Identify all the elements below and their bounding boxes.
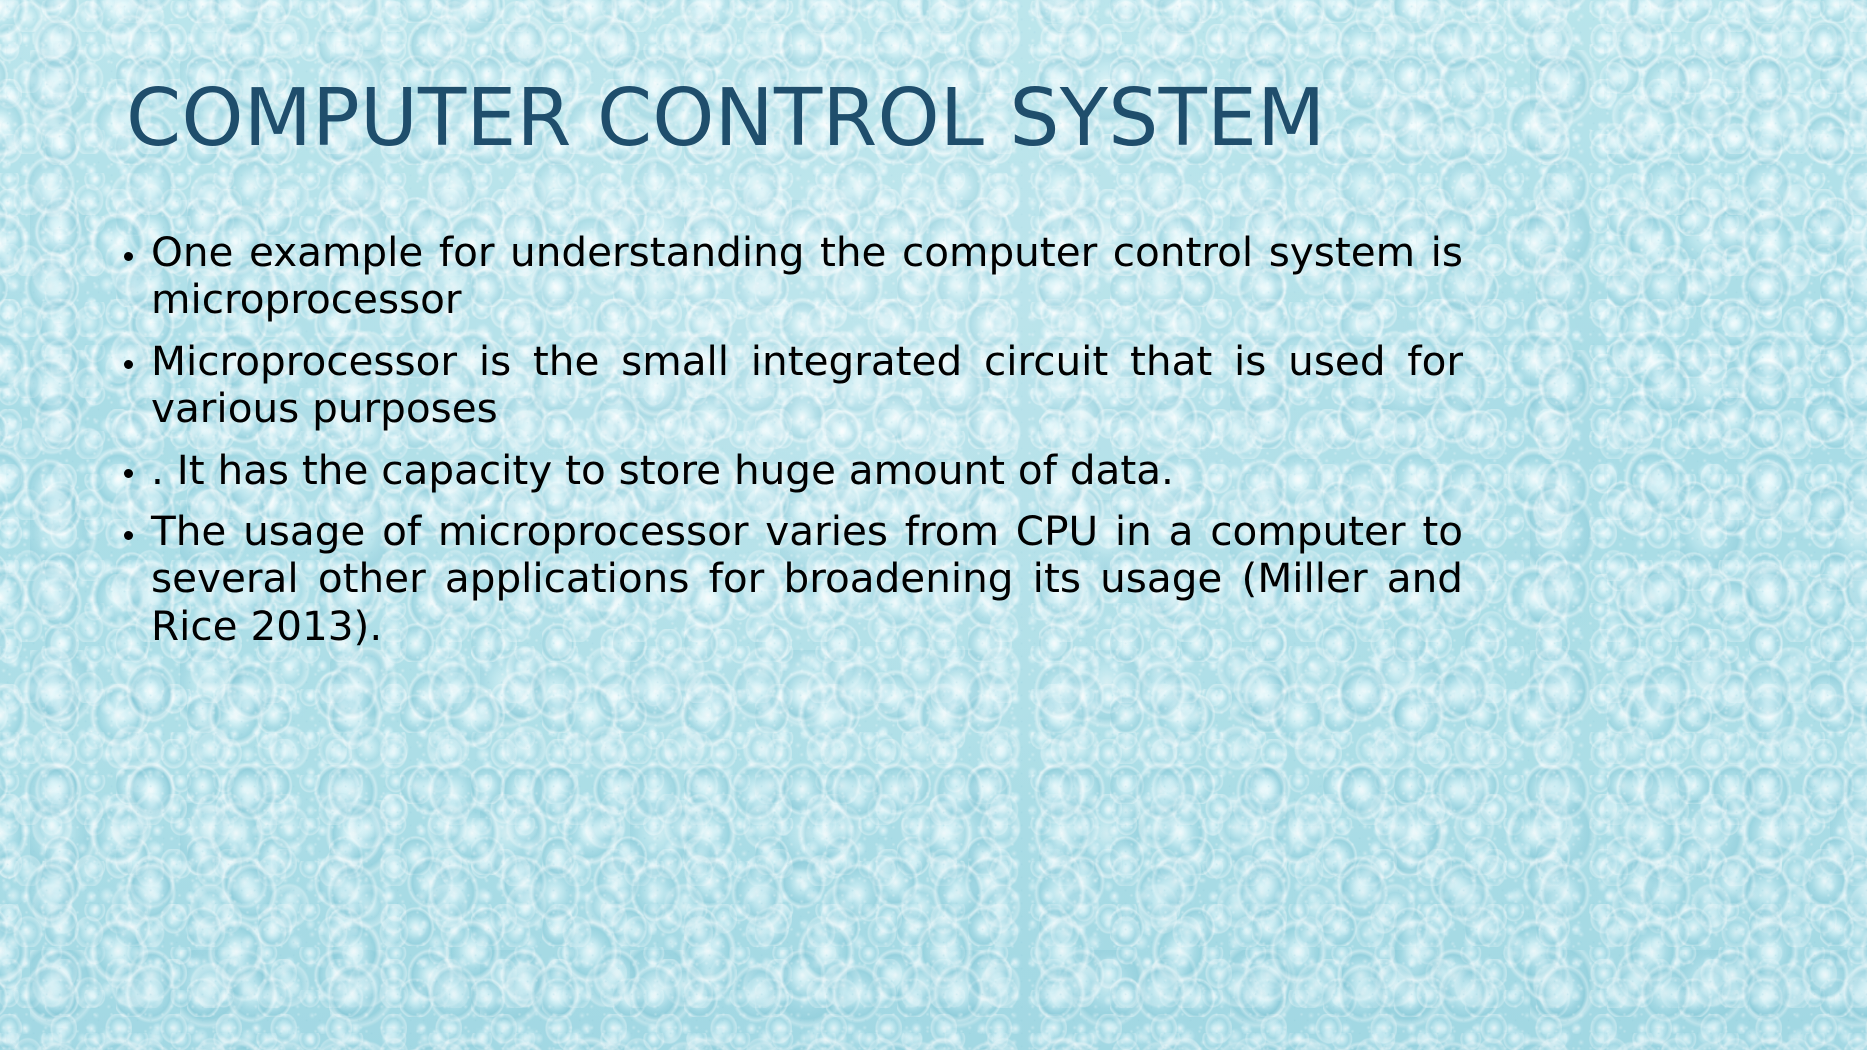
bullet-list-item: . It has the capacity to store huge amou… [118,447,1463,494]
slide-title: COMPUTER CONTROL SYSTEM [126,78,1746,159]
bullet-dot-icon [124,252,133,261]
bullet-dot-icon [124,360,133,369]
bullet-text: One example for understanding the comput… [151,229,1463,324]
bullet-dot-icon [124,469,133,478]
bullet-dot-icon [124,531,133,540]
bullet-text: . It has the capacity to store huge amou… [151,447,1463,494]
bullet-list: One example for understanding the comput… [118,229,1463,650]
presentation-slide: COMPUTER CONTROL SYSTEM One example for … [0,0,1867,1050]
bullet-list-item: Microprocessor is the small integrated c… [118,338,1463,433]
slide-content: COMPUTER CONTROL SYSTEM One example for … [0,0,1867,1050]
bullet-text: Microprocessor is the small integrated c… [151,338,1463,433]
slide-body-placeholder: One example for understanding the comput… [118,229,1463,650]
bullet-list-item: One example for understanding the comput… [118,229,1463,324]
bullet-list-item: The usage of microprocessor varies from … [118,508,1463,650]
bullet-text: The usage of microprocessor varies from … [151,508,1463,650]
